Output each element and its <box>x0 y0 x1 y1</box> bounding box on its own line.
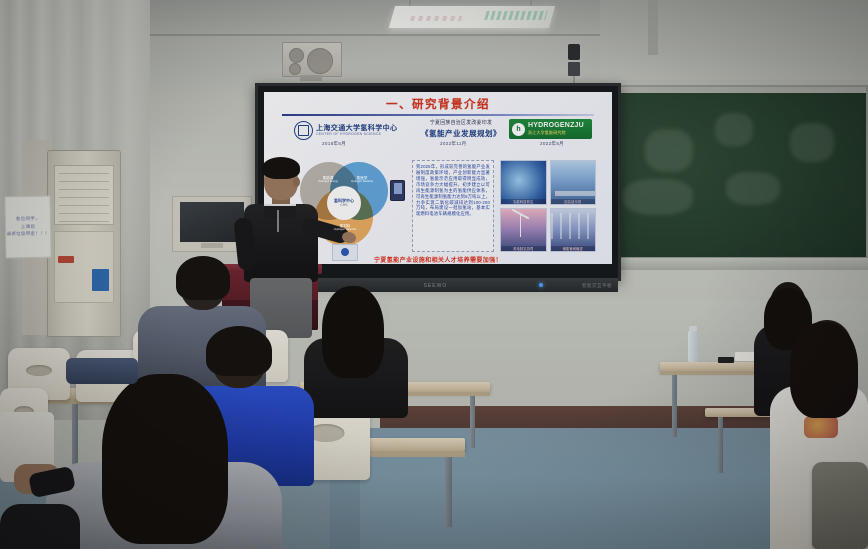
wall-speaker <box>282 42 342 77</box>
chalkboard-surface <box>596 93 866 258</box>
student-hair <box>322 286 384 378</box>
speaker-cone-large <box>307 48 333 74</box>
device-icon <box>390 180 405 201</box>
bottle-cap <box>689 326 697 331</box>
air-conditioner[interactable] <box>47 150 121 337</box>
slide-photo-caption: 储能管网输送 <box>551 246 596 251</box>
chalk-tray <box>588 257 868 270</box>
slide-photo: 储能管网输送 <box>550 208 597 253</box>
ac-energy-label <box>92 269 109 291</box>
student-hair <box>206 326 272 376</box>
chair[interactable] <box>812 462 868 549</box>
ac-brand-logo <box>58 256 74 263</box>
speaker-bracket <box>300 75 322 81</box>
smartphone[interactable] <box>718 357 734 363</box>
presenter-ear <box>293 177 300 187</box>
venn-label-medicine-en: Hydrogen Medicine <box>340 180 384 183</box>
desk-leg <box>718 417 723 473</box>
student-torso <box>0 504 80 549</box>
student-hair <box>790 322 858 418</box>
ac-panel <box>54 231 114 303</box>
power-led-icon <box>539 283 543 287</box>
slide-photo-grid: 氢能科技前沿 加氢站示范 风电制氢协同 储能管网输送 <box>500 160 596 252</box>
slide-photo-caption: 风电制氢协同 <box>501 246 546 251</box>
wall-camera-icon <box>568 44 580 60</box>
zju-badge-suffix: ZJU <box>570 122 584 129</box>
ac-grill <box>54 165 114 225</box>
student <box>46 380 282 549</box>
policy-paragraph-box: 到2025年，形成较完善的氢能产业发展制度政策环境，产业创新能力显著增强，氢能示… <box>412 160 494 252</box>
slide-photo-caption: 氢能科技前沿 <box>501 199 546 204</box>
speaker-cone-mid <box>289 48 304 63</box>
chalkboard <box>588 85 868 270</box>
water-bottle[interactable] <box>688 330 698 362</box>
student-hair <box>176 256 230 300</box>
light-reflection-pink <box>410 16 463 21</box>
slide-page-number: 4 <box>532 263 534 264</box>
student <box>300 288 410 414</box>
classroom-scene: 各位同学， 上课后 请将垃圾带走！！！ 一、研究背景介绍 <box>0 0 868 549</box>
slide-title: 一、研究背景介绍 <box>264 96 612 112</box>
ceiling-light <box>389 6 555 28</box>
desk-leg <box>445 457 452 527</box>
slide-photo-caption: 加氢站示范 <box>551 199 596 204</box>
presenter-placket <box>277 210 279 232</box>
jacket-graphic <box>804 416 838 438</box>
slide-photo: 加氢站示范 <box>550 160 597 205</box>
policy-issuer: 宁夏回族自治区发改委印发 <box>406 119 516 126</box>
notice-line-1: 各位同学， <box>16 217 40 222</box>
notice-sign: 各位同学， 上课后 请将垃圾带走！！！ <box>4 196 51 259</box>
presenter-hair <box>262 157 300 179</box>
presenter-collar <box>264 204 296 219</box>
desk-leg <box>470 396 475 448</box>
slide-header-row: 上海交通大学氢科学中心 CENTER OF HYDROGEN SCIENCE 2… <box>264 119 612 155</box>
notice-line-2: 上课后 <box>21 225 35 230</box>
policy-doc-title: 《氢能产业发展规划》 <box>406 128 516 139</box>
slide-title-rule <box>282 114 594 116</box>
slide-photo: 氢能科技前沿 <box>500 160 547 205</box>
sjtu-date: 2018年6月 <box>322 141 346 147</box>
backpack[interactable] <box>66 358 138 384</box>
policy-doc-block: 宁夏回族自治区发改委印发 《氢能产业发展规划》 <box>406 119 516 139</box>
speaker-cone-small <box>289 63 301 75</box>
zju-badge-main: HYDROGEN <box>528 122 570 129</box>
sjtu-seal-icon <box>294 121 313 140</box>
desk-leg <box>672 375 677 437</box>
hydrogen-ring-icon: h <box>512 123 525 136</box>
wall-camera-body <box>568 62 580 76</box>
slide-photo: 风电制氢协同 <box>500 208 547 253</box>
zju-badge-sub: 浙江大学氢能研究院 <box>528 130 584 136</box>
student <box>0 500 80 549</box>
right-wall <box>600 0 868 80</box>
whiteboard-side-label: 智能交互平板 <box>582 283 612 289</box>
sjtu-name-en: CENTER OF HYDROGEN SCIENCE <box>316 132 397 136</box>
sjtu-logo-block: 上海交通大学氢科学中心 CENTER OF HYDROGEN SCIENCE <box>294 121 397 140</box>
light-reflection-green <box>484 11 547 20</box>
sjtu-name-cn: 上海交通大学氢科学中心 <box>316 125 397 133</box>
policy-paragraph-text: 到2025年，形成较完善的氢能产业发展制度政策环境，产业创新能力显著增强，氢能示… <box>416 164 490 217</box>
ceiling-pillar <box>648 0 658 55</box>
zju-date: 2022年6月 <box>540 141 564 147</box>
whiteboard-brand-label: SEEWO <box>424 283 448 289</box>
student-hair <box>102 374 228 544</box>
chair-handle-cutout <box>26 365 52 376</box>
zju-hydrogen-badge: h HYDROGENZJU 浙江大学氢能研究院 <box>509 119 592 139</box>
policy-date: 2022年11月 <box>440 141 467 147</box>
wall-monitor-base <box>201 243 223 248</box>
notice-line-3: 请将垃圾带走！！！ <box>6 232 49 237</box>
venn-label-materials-en: Hydrogen Materials <box>322 228 368 231</box>
